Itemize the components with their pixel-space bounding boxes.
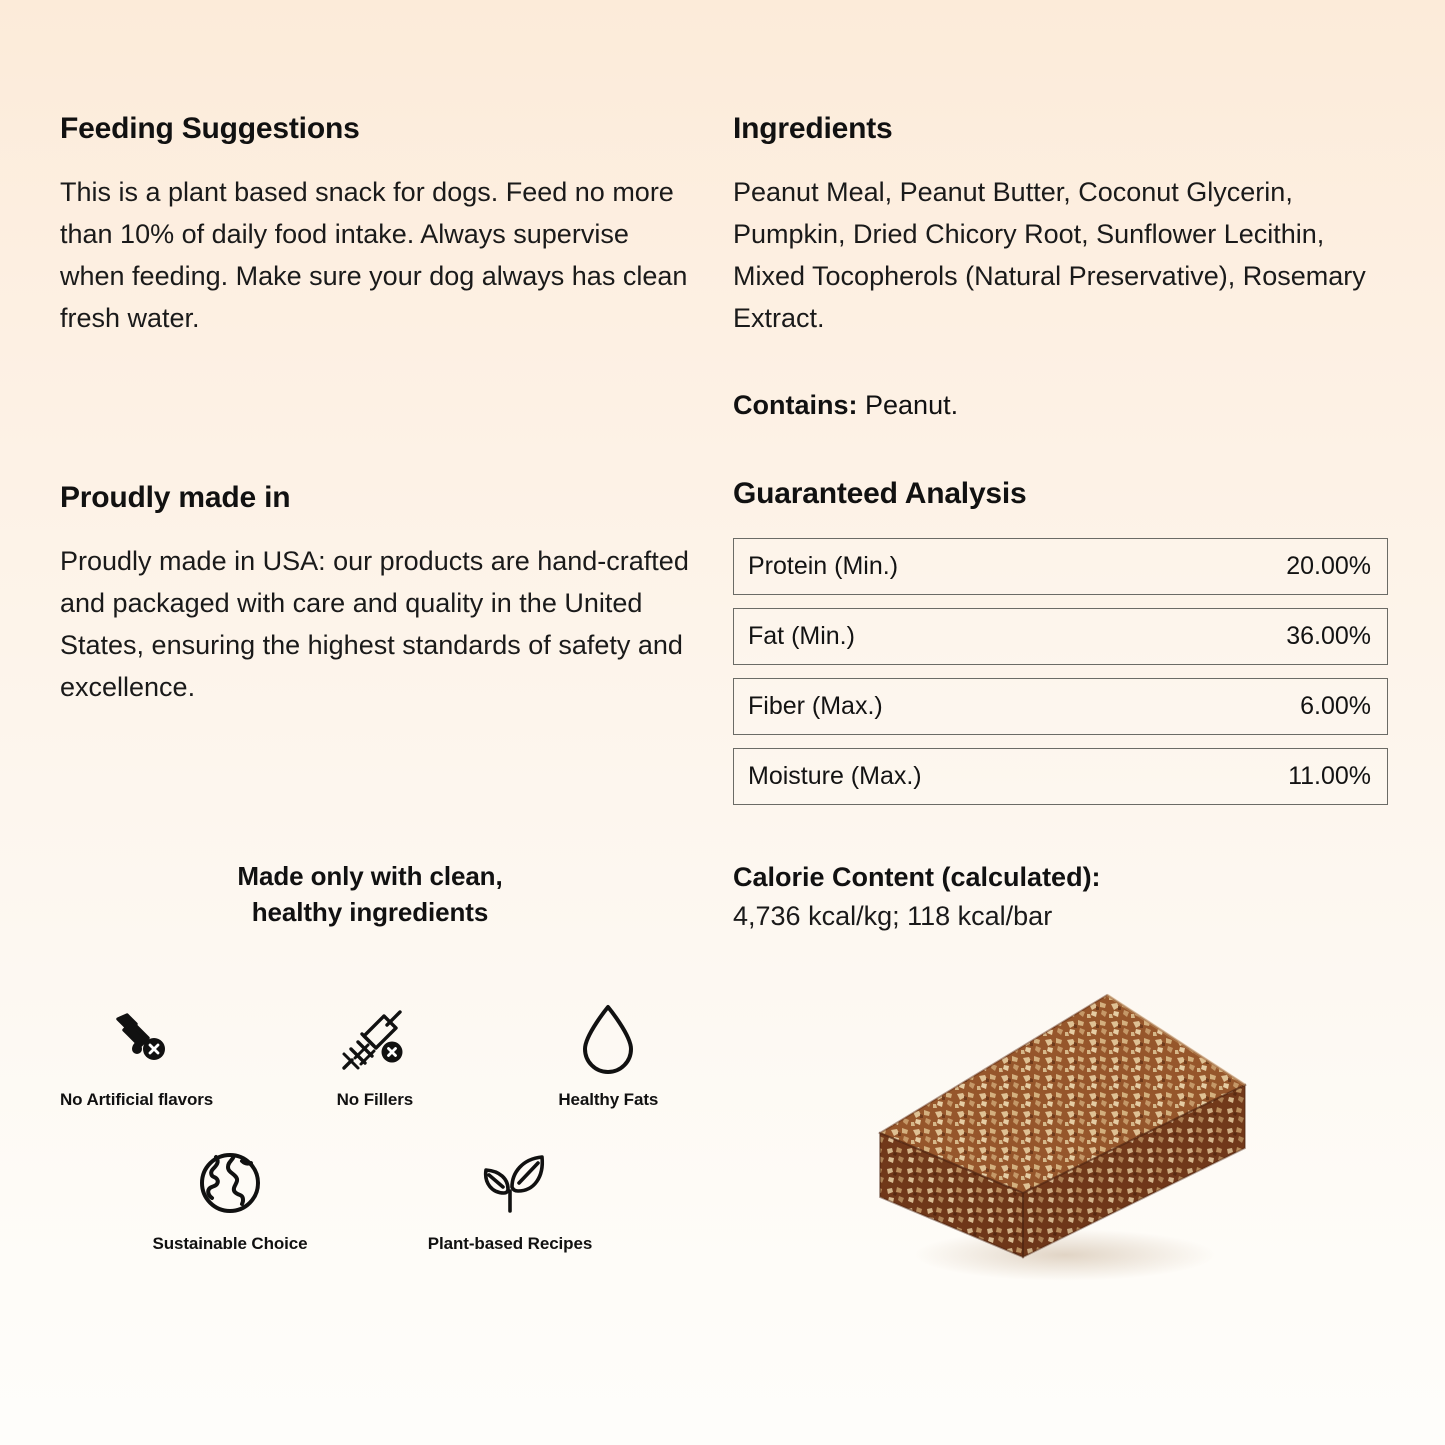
made-in-title: Proudly made in bbox=[60, 481, 690, 514]
guaranteed-analysis-row: Moisture (Max.) 11.00% bbox=[733, 748, 1388, 805]
guaranteed-analysis-title: Guaranteed Analysis bbox=[733, 477, 1388, 510]
contains-label: Contains: bbox=[733, 390, 858, 420]
guaranteed-analysis-label: Fiber (Max.) bbox=[748, 694, 883, 719]
guaranteed-analysis-label: Protein (Min.) bbox=[748, 554, 898, 579]
feeding-suggestions-body: This is a plant based snack for dogs. Fe… bbox=[60, 171, 690, 339]
feature-badge-label: Plant-based Recipes bbox=[428, 1234, 592, 1254]
leaf-icon bbox=[472, 1144, 548, 1222]
dropper-no-icon bbox=[101, 1000, 173, 1078]
calorie-content-section: Calorie Content (calculated): 4,736 kcal… bbox=[733, 860, 1388, 935]
guaranteed-analysis-row: Fiber (Max.) 6.00% bbox=[733, 678, 1388, 735]
feature-badge: No Artificial flavors bbox=[60, 1000, 213, 1110]
made-in-body: Proudly made in USA: our products are ha… bbox=[60, 540, 690, 708]
calorie-content-value: 4,736 kcal/kg; 118 kcal/bar bbox=[733, 898, 1388, 934]
feeding-suggestions-title: Feeding Suggestions bbox=[60, 112, 690, 145]
feature-badge-label: Sustainable Choice bbox=[152, 1234, 307, 1254]
water-drop-icon bbox=[577, 1000, 639, 1078]
feature-badge: Plant-based Recipes bbox=[415, 1144, 605, 1254]
feature-badge: Sustainable Choice bbox=[135, 1144, 325, 1254]
made-in-section: Proudly made in Proudly made in USA: our… bbox=[60, 481, 690, 708]
feature-badge: Healthy Fats bbox=[537, 1000, 680, 1110]
guaranteed-analysis-value: 36.00% bbox=[1286, 624, 1371, 649]
feature-badge-label: No Artificial flavors bbox=[60, 1090, 213, 1110]
guaranteed-analysis-label: Fat (Min.) bbox=[748, 624, 855, 649]
contains-value: Peanut. bbox=[865, 390, 958, 420]
globe-icon bbox=[196, 1144, 264, 1222]
ingredients-body: Peanut Meal, Peanut Butter, Coconut Glyc… bbox=[733, 171, 1388, 339]
guaranteed-analysis-row: Protein (Min.) 20.00% bbox=[733, 538, 1388, 595]
guaranteed-analysis-value: 6.00% bbox=[1300, 694, 1371, 719]
ingredients-title: Ingredients bbox=[733, 112, 1388, 145]
guaranteed-analysis-row: Fat (Min.) 36.00% bbox=[733, 608, 1388, 665]
clean-ingredients-heading-line1: Made only with clean, bbox=[60, 858, 680, 894]
guaranteed-analysis-value: 11.00% bbox=[1288, 764, 1371, 789]
guaranteed-analysis-label: Moisture (Max.) bbox=[748, 764, 922, 789]
calorie-content-title: Calorie Content (calculated): bbox=[733, 860, 1388, 895]
feature-badges: No Artificial flavors No Fillers Healthy… bbox=[60, 1000, 680, 1254]
syringe-no-icon bbox=[338, 1000, 412, 1078]
ingredients-section: Ingredients Peanut Meal, Peanut Butter, … bbox=[733, 112, 1388, 423]
product-photo-peanut-bar bbox=[845, 965, 1275, 1295]
clean-ingredients-heading: Made only with clean, healthy ingredient… bbox=[60, 858, 680, 930]
feature-badge-label: Healthy Fats bbox=[558, 1090, 658, 1110]
feature-badges-row-1: No Artificial flavors No Fillers Healthy… bbox=[60, 1000, 680, 1110]
feature-badge-label: No Fillers bbox=[337, 1090, 413, 1110]
product-detail-page: Feeding Suggestions This is a plant base… bbox=[0, 0, 1445, 1445]
feature-badges-row-2: Sustainable Choice Plant-based Recipes bbox=[60, 1144, 680, 1254]
guaranteed-analysis-section: Guaranteed Analysis Protein (Min.) 20.00… bbox=[733, 477, 1388, 805]
contains-line: Contains: Peanut. bbox=[733, 387, 1388, 423]
feeding-suggestions-section: Feeding Suggestions This is a plant base… bbox=[60, 112, 690, 339]
feature-badge: No Fillers bbox=[303, 1000, 446, 1110]
clean-ingredients-heading-line2: healthy ingredients bbox=[60, 894, 680, 930]
guaranteed-analysis-value: 20.00% bbox=[1286, 554, 1371, 579]
guaranteed-analysis-table: Protein (Min.) 20.00%Fat (Min.) 36.00%Fi… bbox=[733, 538, 1388, 805]
